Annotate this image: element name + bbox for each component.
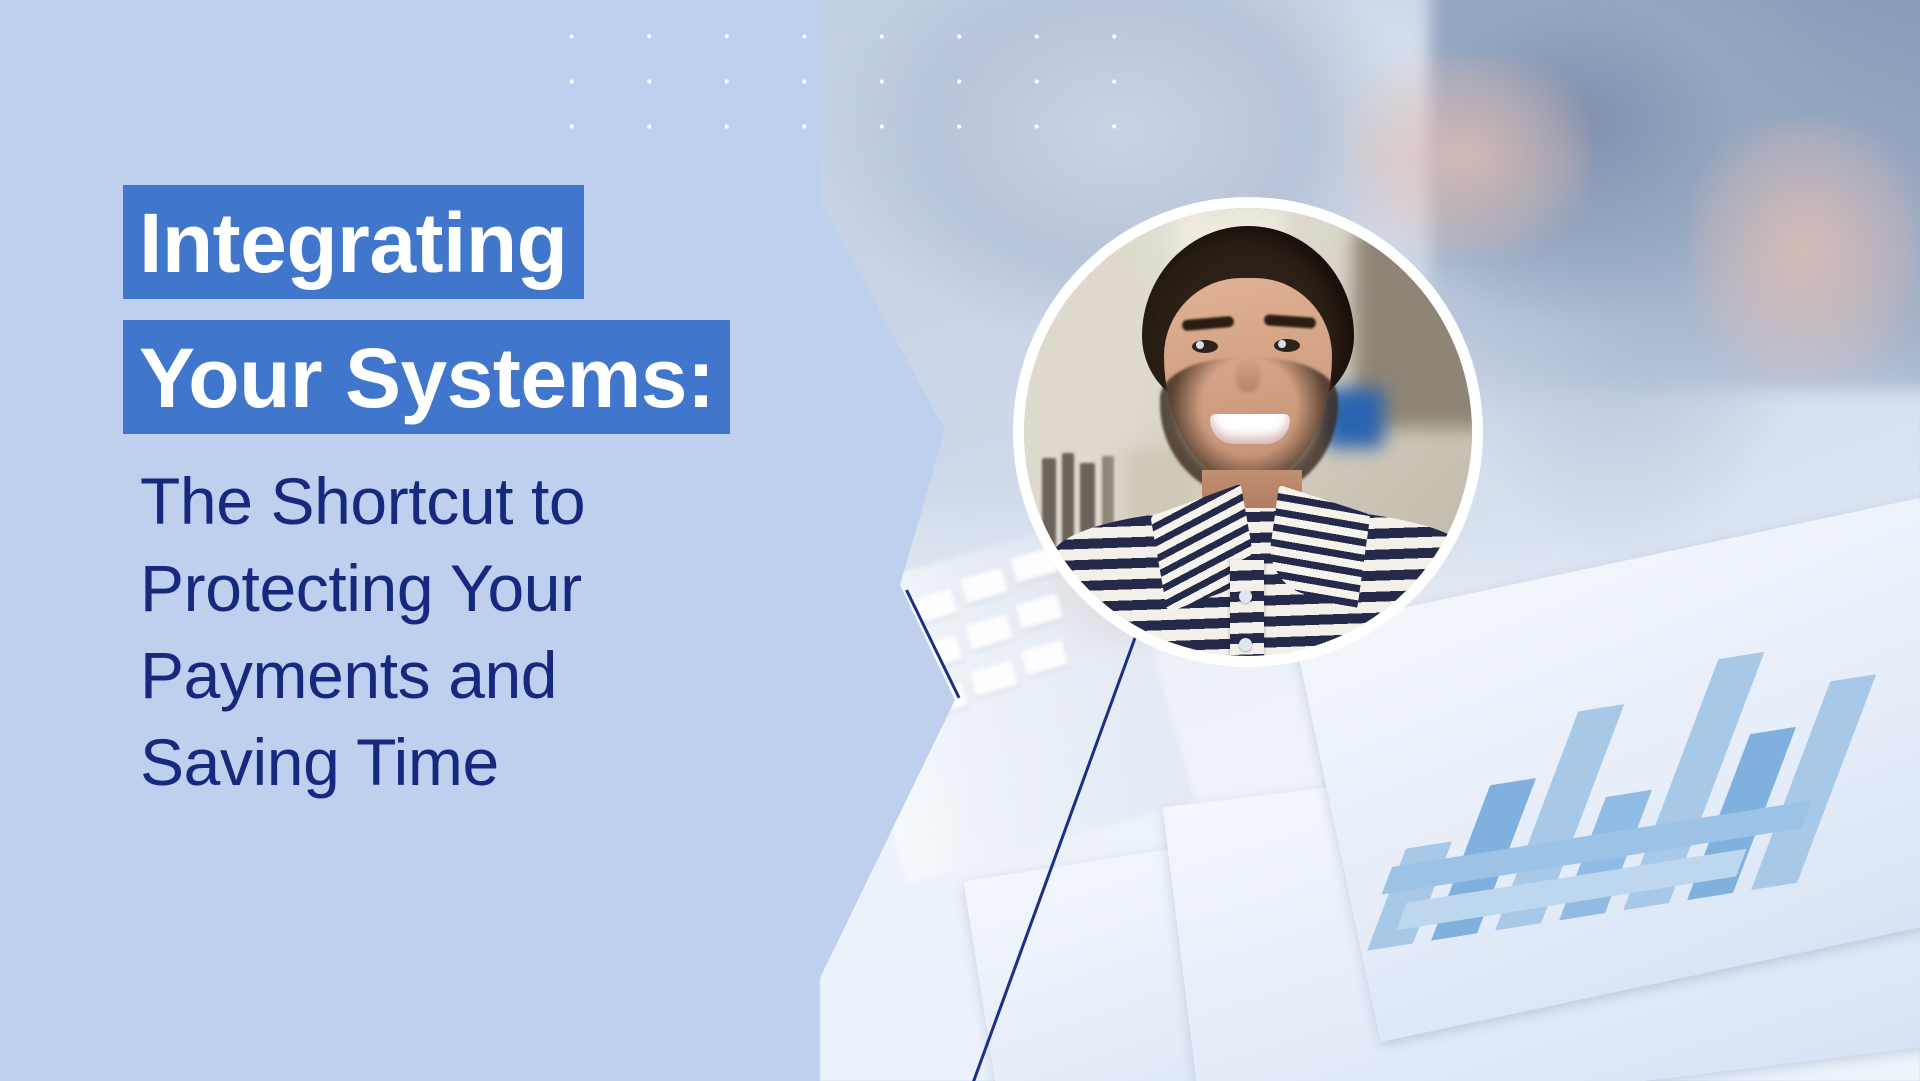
hand-blur bbox=[1690, 120, 1920, 380]
header-graphic-canvas: Integrating Your Systems: The Shortcut t… bbox=[0, 0, 1920, 1081]
shirt-button bbox=[1239, 638, 1252, 651]
avatar bbox=[1013, 197, 1483, 667]
headline-block: Integrating Your Systems: The Shortcut t… bbox=[123, 185, 883, 806]
headline-line-1: Integrating bbox=[123, 185, 584, 299]
subtitle-line-4: Saving Time bbox=[140, 719, 883, 806]
subtitle-line-2: Protecting Your bbox=[140, 545, 883, 632]
smile bbox=[1210, 414, 1290, 444]
subtitle-line-1: The Shortcut to bbox=[140, 458, 883, 545]
shirt-button bbox=[1239, 590, 1252, 603]
dot-grid-pattern bbox=[533, 14, 1133, 154]
headline-line-2: Your Systems: bbox=[123, 320, 730, 434]
shirt-placket bbox=[1230, 560, 1264, 667]
portrait-photo bbox=[1024, 208, 1472, 656]
subtitle-line-3: Payments and bbox=[140, 632, 883, 719]
subtitle-block: The Shortcut to Protecting Your Payments… bbox=[123, 458, 883, 806]
